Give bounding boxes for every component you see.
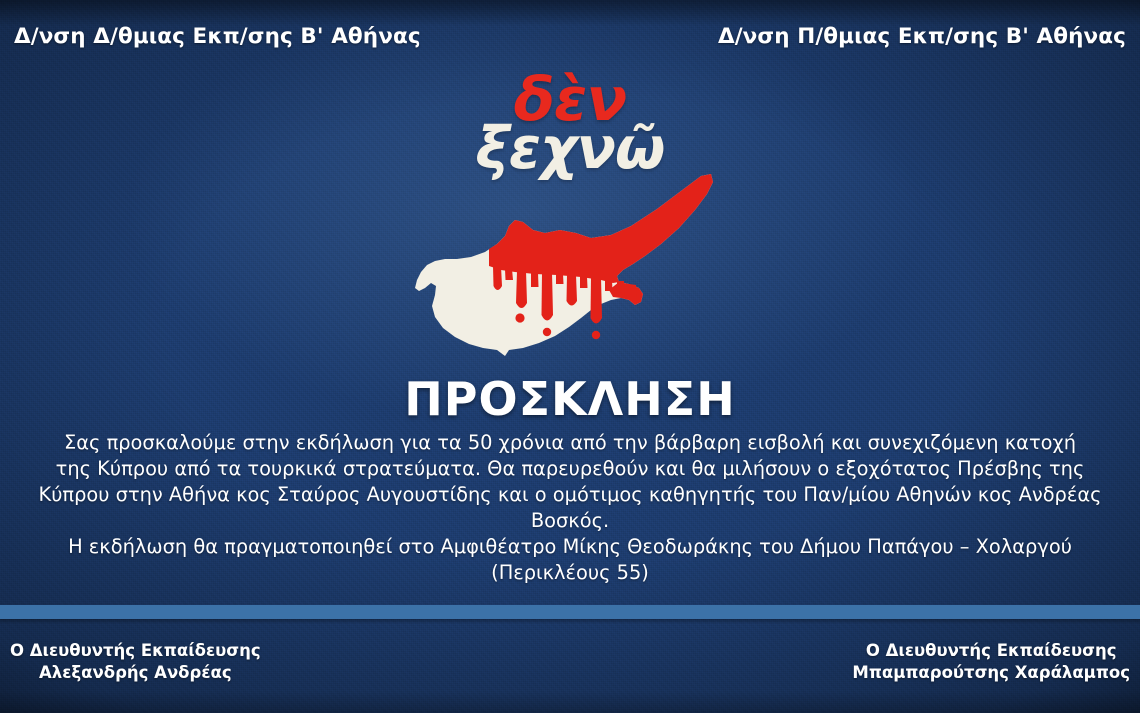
page-title: ΠΡΟΣΚΛΗΣΗ — [0, 372, 1140, 426]
body-line-6: (Περικλέους 55) — [14, 560, 1126, 586]
body-line-2: της Κύπρου από τα τουρκικά στρατεύματα. … — [14, 456, 1126, 482]
invitation-body: Σας προσκαλούμε στην εκδήλωση για τα 50 … — [14, 430, 1126, 586]
logo-line-ksexno: ξεχνῶ — [0, 123, 1140, 174]
body-line-4: Βοσκός. — [14, 508, 1126, 534]
divider-band-shadow — [0, 619, 1140, 624]
divider-band — [0, 605, 1140, 619]
signature-left: Ο Διευθυντής Εκπαίδευσης Αλεξανδρής Ανδρ… — [10, 640, 261, 684]
header: Δ/νση Δ/θμιας Εκπ/σης Β' Αθήνας Δ/νση Π/… — [0, 24, 1140, 49]
signature-right: Ο Διευθυντής Εκπαίδευσης Μπαμπαρούτσης Χ… — [852, 640, 1130, 684]
cyprus-map-bleeding-icon — [405, 160, 735, 365]
invitation-poster: Δ/νση Δ/θμιας Εκπ/σης Β' Αθήνας Δ/νση Π/… — [0, 0, 1140, 713]
department-right-label: Δ/νση Π/θμιας Εκπ/σης Β' Αθήνας — [718, 24, 1126, 49]
signature-right-name: Μπαμπαρούτσης Χαράλαμπος — [852, 662, 1130, 684]
signature-footer: Ο Διευθυντής Εκπαίδευσης Αλεξανδρής Ανδρ… — [0, 640, 1140, 684]
department-left-label: Δ/νση Δ/θμιας Εκπ/σης Β' Αθήνας — [14, 24, 421, 49]
body-line-5: Η εκδήλωση θα πραγματοποιηθεί στο Αμφιθέ… — [14, 534, 1126, 560]
signature-left-name: Αλεξανδρής Ανδρέας — [10, 662, 261, 684]
body-line-1: Σας προσκαλούμε στην εκδήλωση για τα 50 … — [14, 430, 1126, 456]
signature-right-role: Ο Διευθυντής Εκπαίδευσης — [852, 640, 1130, 662]
body-line-3: Κύπρου στην Αθήνα κος Σταύρος Αυγουστίδη… — [14, 482, 1126, 508]
occupied-north-red — [489, 174, 713, 283]
den-ksexno-logo: δὲν ξεχνῶ — [0, 74, 1140, 174]
signature-left-role: Ο Διευθυντής Εκπαίδευσης — [10, 640, 261, 662]
